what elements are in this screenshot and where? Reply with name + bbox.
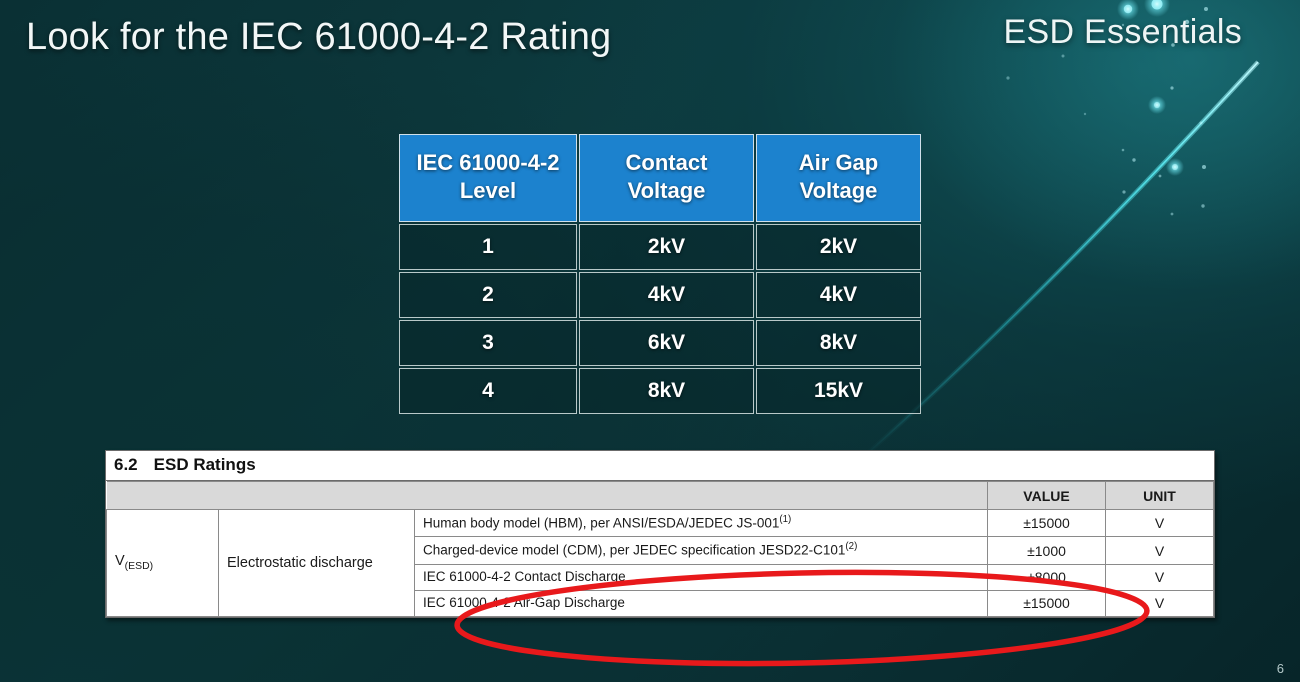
iec-cell-level: 2 <box>399 272 577 318</box>
datasheet-value: ±1000 <box>988 537 1106 564</box>
iec-header-airgap-line1: Air Gap <box>799 150 878 175</box>
datasheet-section-number: 6.2 <box>114 455 138 474</box>
datasheet-parameter: Electrostatic discharge <box>219 510 415 617</box>
brand-label: ESD Essentials <box>1003 13 1242 52</box>
datasheet-unit: V <box>1106 537 1214 564</box>
iec-header-contact: Contact Voltage <box>579 134 754 222</box>
datasheet-condition-footnote: (2) <box>845 541 857 552</box>
page-title: Look for the IEC 61000-4-2 Rating <box>26 16 611 59</box>
datasheet-condition: IEC 61000-4-2 Air-Gap Discharge <box>415 590 988 616</box>
datasheet-condition: IEC 61000-4-2 Contact Discharge <box>415 564 988 590</box>
table-row: 4 8kV 15kV <box>399 368 921 414</box>
iec-cell-level: 4 <box>399 368 577 414</box>
iec-cell-airgap: 4kV <box>756 272 921 318</box>
table-row: 1 2kV 2kV <box>399 224 921 270</box>
datasheet-header-value: VALUE <box>988 482 1106 510</box>
iec-cell-contact: 6kV <box>579 320 754 366</box>
iec-header-contact-line2: Voltage <box>628 178 706 203</box>
datasheet-value: ±8000 <box>988 564 1106 590</box>
iec-header-level-line1: IEC 61000-4-2 <box>416 150 559 175</box>
datasheet-section-title: ESD Ratings <box>154 455 256 474</box>
iec-cell-airgap: 2kV <box>756 224 921 270</box>
datasheet-condition-text: Human body model (HBM), per ANSI/ESDA/JE… <box>423 516 779 531</box>
iec-cell-contact: 2kV <box>579 224 754 270</box>
iec-header-contact-line1: Contact <box>626 150 708 175</box>
iec-header-airgap: Air Gap Voltage <box>756 134 921 222</box>
datasheet-value: ±15000 <box>988 590 1106 616</box>
datasheet-esd-ratings-table: 6.2ESD Ratings VALUE UNIT V(ESD) E <box>105 450 1215 618</box>
datasheet-unit: V <box>1106 590 1214 616</box>
slide-canvas: Look for the IEC 61000-4-2 Rating ESD Es… <box>0 0 1300 682</box>
datasheet-condition: Human body model (HBM), per ANSI/ESDA/JE… <box>415 510 988 537</box>
table-row: 3 6kV 8kV <box>399 320 921 366</box>
datasheet-section-heading: 6.2ESD Ratings <box>106 451 1214 481</box>
iec-cell-level: 3 <box>399 320 577 366</box>
table-row: V(ESD) Electrostatic discharge Human bod… <box>107 510 1214 537</box>
iec-rating-table: IEC 61000-4-2 Level Contact Voltage Air … <box>397 132 923 416</box>
iec-header-level: IEC 61000-4-2 Level <box>399 134 577 222</box>
datasheet-condition-footnote: (1) <box>779 514 791 525</box>
datasheet-condition-text: Charged-device model (CDM), per JEDEC sp… <box>423 543 845 558</box>
datasheet-header-unit: UNIT <box>1106 482 1214 510</box>
iec-header-airgap-line2: Voltage <box>800 178 878 203</box>
iec-cell-airgap: 15kV <box>756 368 921 414</box>
datasheet-unit: V <box>1106 564 1214 590</box>
datasheet-value: ±15000 <box>988 510 1106 537</box>
datasheet-symbol-base: V <box>115 553 125 569</box>
datasheet-symbol: V(ESD) <box>107 510 219 617</box>
iec-table-header-row: IEC 61000-4-2 Level Contact Voltage Air … <box>399 134 921 222</box>
table-row: 2 4kV 4kV <box>399 272 921 318</box>
datasheet-condition: Charged-device model (CDM), per JEDEC sp… <box>415 537 988 564</box>
datasheet-header-blank <box>107 482 988 510</box>
datasheet-header-row: VALUE UNIT <box>107 482 1214 510</box>
slide-page-number: 6 <box>1277 661 1284 676</box>
datasheet-unit: V <box>1106 510 1214 537</box>
iec-cell-contact: 8kV <box>579 368 754 414</box>
iec-header-level-line2: Level <box>460 178 516 203</box>
iec-cell-contact: 4kV <box>579 272 754 318</box>
iec-cell-airgap: 8kV <box>756 320 921 366</box>
iec-cell-level: 1 <box>399 224 577 270</box>
datasheet-symbol-subscript: (ESD) <box>125 561 153 572</box>
